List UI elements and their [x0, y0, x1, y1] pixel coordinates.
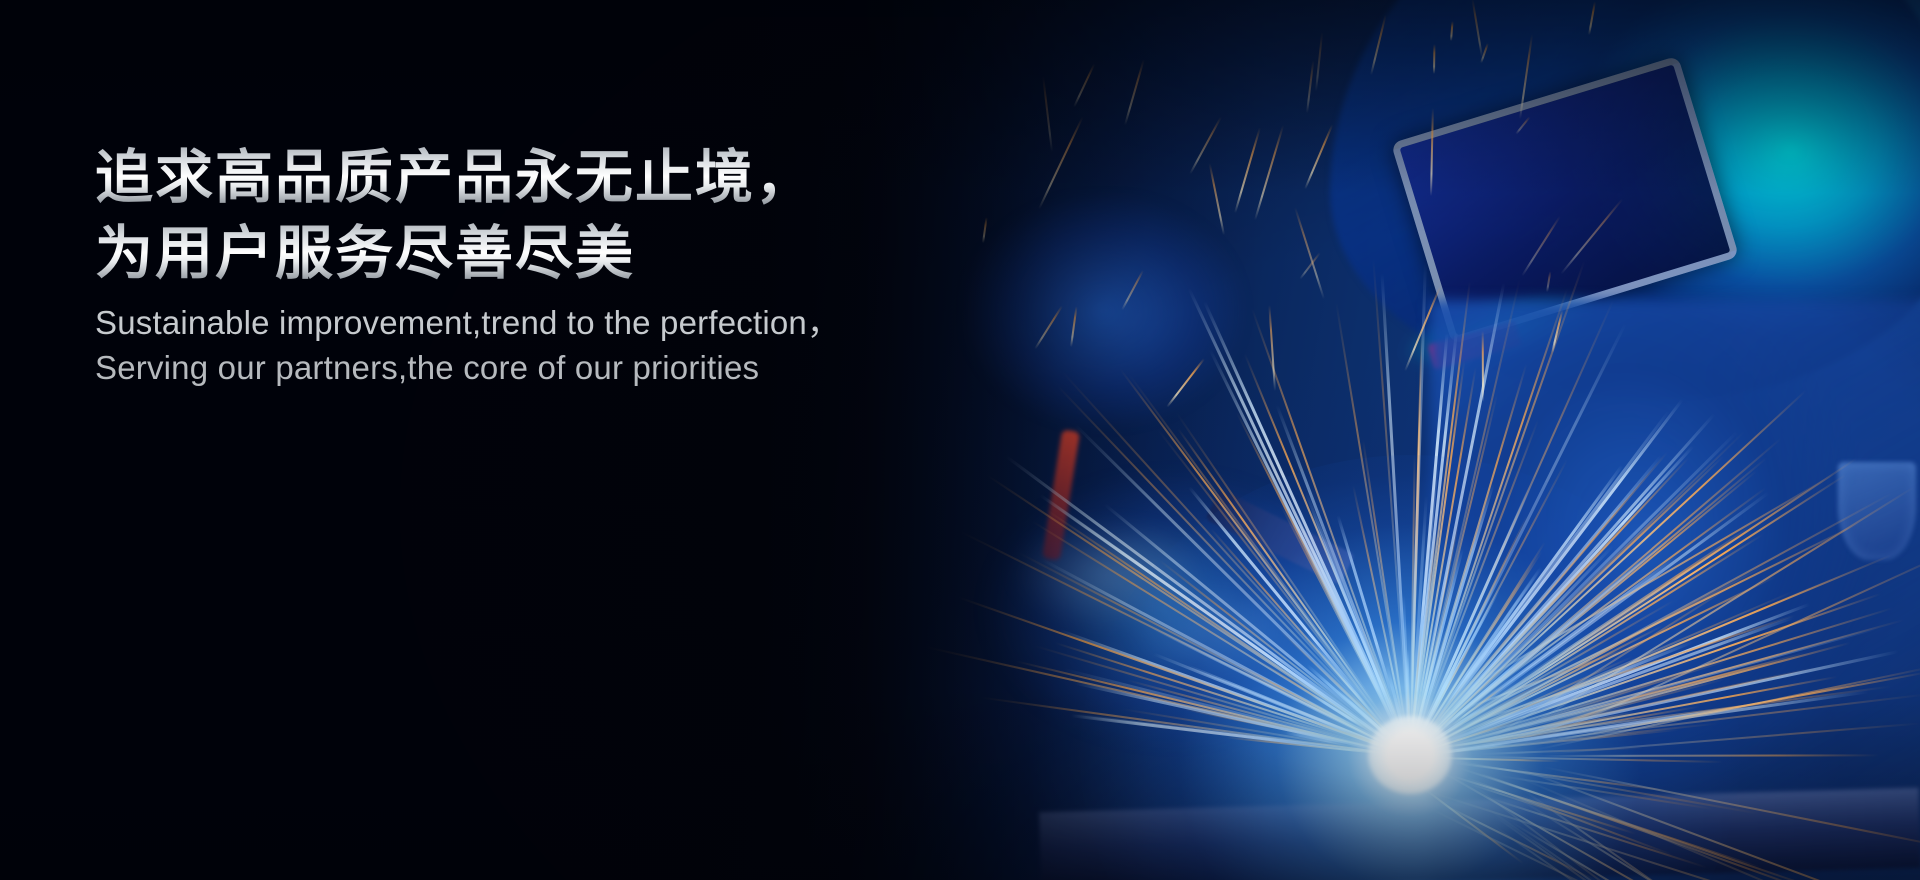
- subtitle-line-2: Serving our partners,the core of our pri…: [95, 345, 1155, 390]
- background-photo: [0, 0, 1920, 880]
- subtitle-line-1: Sustainable improvement,trend to the per…: [95, 300, 1155, 345]
- headline-line-1: 追求高品质产品永无止境，: [95, 140, 1155, 216]
- headline-line-2: 为用户服务尽善尽美: [95, 216, 1155, 292]
- hero-banner: 追求高品质产品永无止境， 为用户服务尽善尽美 Sustainable impro…: [0, 0, 1920, 880]
- photo-vignette-overlay: [0, 0, 1920, 880]
- banner-copy-block: 追求高品质产品永无止境， 为用户服务尽善尽美 Sustainable impro…: [95, 140, 1155, 390]
